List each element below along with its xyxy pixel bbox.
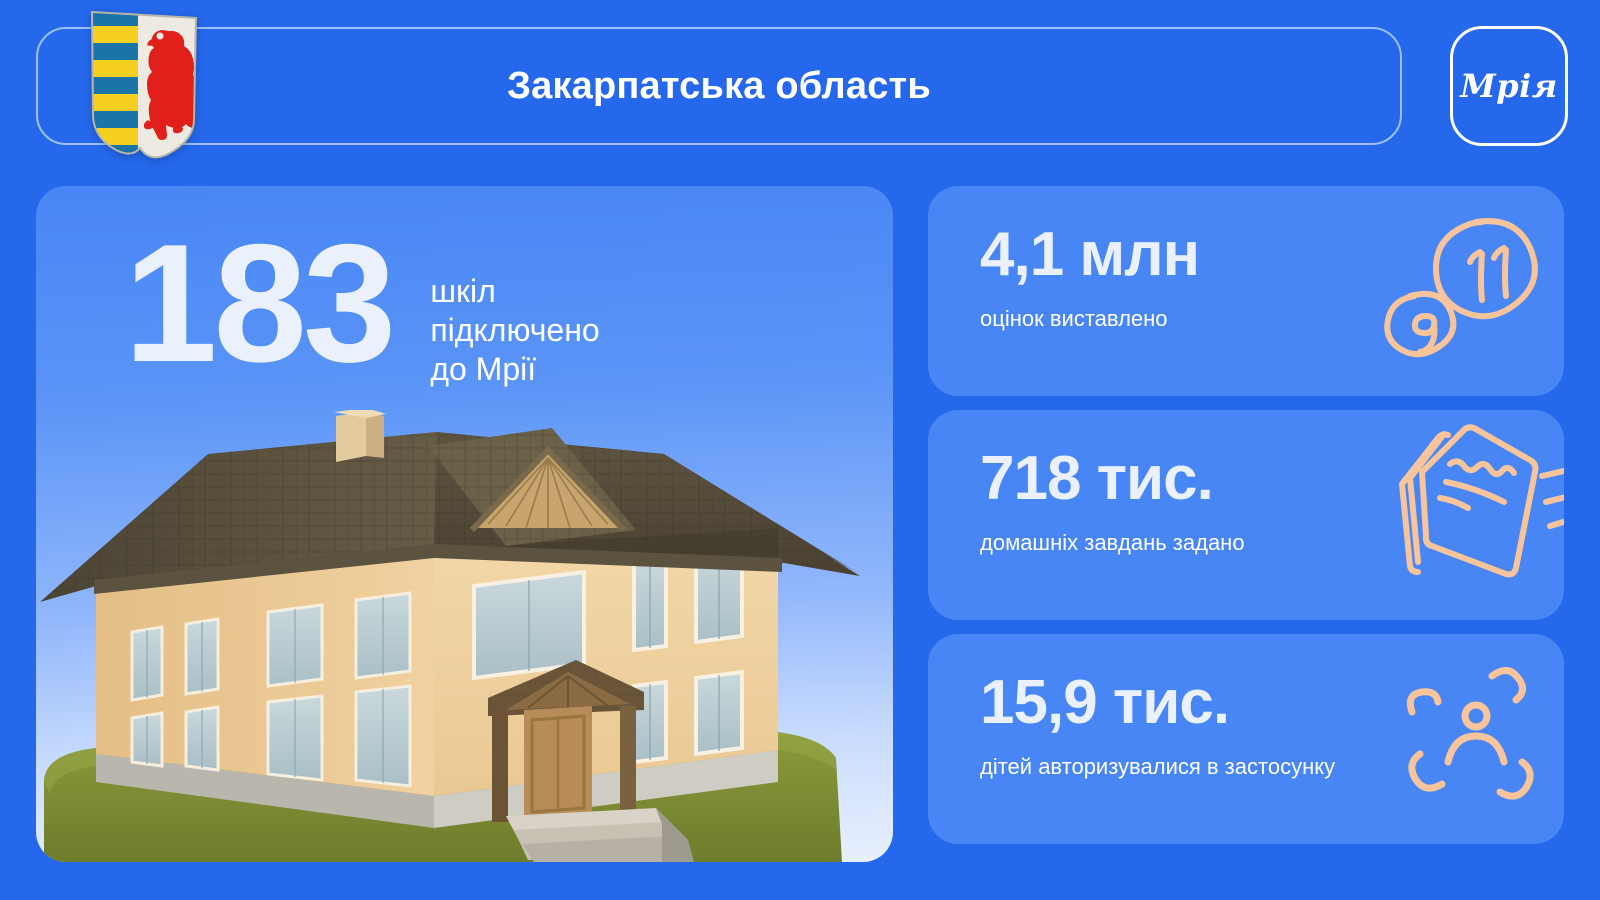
face-scan-icon: [1376, 650, 1564, 832]
homework-label: домашніх завдань задано: [980, 530, 1245, 556]
page-title: Закарпатська область: [507, 65, 931, 108]
stat-card-homework: 718 тис. домашніх завдань задано: [928, 410, 1564, 620]
grades-label: оцінок виставлено: [980, 306, 1168, 332]
stat-card-grades: 4,1 млн оцінок виставлено: [928, 186, 1564, 396]
school-building-illustration: [36, 410, 893, 862]
children-label: дітей авторизувалися в застосунку: [980, 754, 1335, 780]
zakarpattia-coat-of-arms-icon: [82, 8, 206, 163]
schools-connected-card: 183 шкіл підключено до Мрії: [36, 186, 893, 862]
circled-grades-icon: [1364, 200, 1554, 382]
grades-count: 4,1 млн: [980, 224, 1199, 286]
schools-stat: 183 шкіл підключено до Мрії: [124, 226, 600, 389]
children-count: 15,9 тис.: [980, 672, 1229, 734]
infographic-page: Закарпатська область: [0, 0, 1600, 900]
homework-count: 718 тис.: [980, 448, 1213, 510]
mriya-logo-badge[interactable]: Мрія: [1450, 26, 1568, 146]
schools-count: 183: [124, 226, 392, 381]
schools-label: шкіл підключено до Мрії: [430, 226, 599, 389]
header-bar: Закарпатська область: [36, 27, 1402, 145]
mriya-logo-label: Мрія: [1460, 67, 1557, 105]
stat-card-children: 15,9 тис. дітей авторизувалися в застосу…: [928, 634, 1564, 844]
notebook-icon: [1380, 420, 1564, 602]
